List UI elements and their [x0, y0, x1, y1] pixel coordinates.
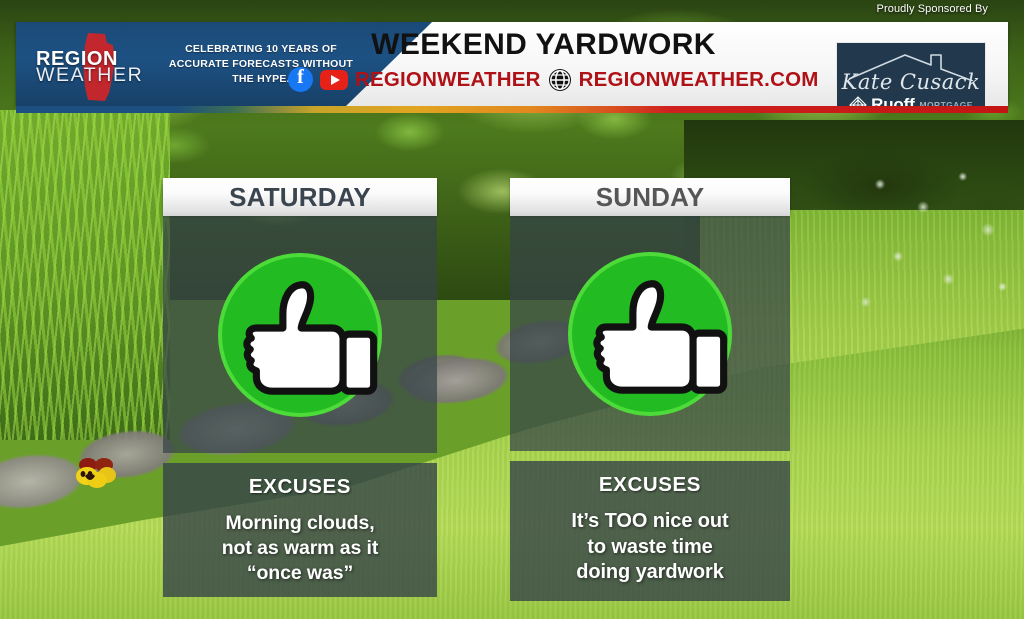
day-name-sunday: SUNDAY	[596, 182, 705, 213]
sponsor-label: Proudly Sponsored By	[877, 3, 988, 15]
day-icon-panel-sunday	[510, 216, 790, 451]
globe-icon	[548, 68, 572, 92]
day-column-sunday: SUNDAY EXCUSES It’s TOO nice out to wast…	[510, 178, 790, 601]
youtube-icon[interactable]	[320, 70, 348, 90]
excuses-line: to waste time	[520, 535, 780, 561]
thumbs-up-icon	[566, 250, 734, 418]
excuses-panel-saturday: EXCUSES Morning clouds, not as warm as i…	[163, 463, 437, 597]
facebook-icon[interactable]	[288, 67, 313, 92]
excuses-title-sunday: EXCUSES	[520, 473, 780, 497]
header-banner: REGION WEATHER CELEBRATING 10 YEARS OF A…	[16, 22, 1008, 106]
day-header-saturday: SATURDAY	[163, 178, 437, 216]
sponsor-brand-lockup: Ruoff MORTGAGE	[837, 95, 985, 106]
background-pansy-flower	[74, 456, 122, 492]
day-header-sunday: SUNDAY	[510, 178, 790, 216]
ruoff-weave-mark-icon	[849, 96, 867, 106]
page-title: WEEKEND YARDWORK	[316, 28, 771, 62]
website-url[interactable]: REGIONWEATHER.COM	[579, 68, 819, 92]
excuses-text-saturday: Morning clouds, not as warm as it “once …	[173, 511, 427, 586]
weather-graphic: REGION WEATHER CELEBRATING 10 YEARS OF A…	[0, 0, 1024, 619]
sponsor-logo-box[interactable]: Kate Cusack Ruoff MORTGAGE	[836, 42, 986, 106]
banner-color-strip	[16, 106, 1008, 113]
day-column-saturday: SATURDAY EXCUSES Morning clouds, not as …	[163, 178, 437, 597]
excuses-line: doing yardwork	[520, 560, 780, 586]
region-weather-logo[interactable]: REGION WEATHER	[34, 34, 164, 96]
day-name-saturday: SATURDAY	[229, 182, 371, 213]
day-icon-panel-saturday	[163, 216, 437, 453]
excuses-panel-sunday: EXCUSES It’s TOO nice out to waste time …	[510, 461, 790, 601]
excuses-title-saturday: EXCUSES	[173, 475, 427, 499]
region-weather-wordmark: REGION WEATHER	[36, 50, 166, 85]
logo-line-weather: WEATHER	[36, 67, 166, 85]
sponsor-brand: Ruoff	[871, 95, 914, 106]
excuses-line: Morning clouds,	[173, 511, 427, 536]
excuses-line: It’s TOO nice out	[520, 509, 780, 535]
social-links-row: REGIONWEATHER REGIONWEATHER.COM	[288, 67, 788, 92]
background-white-flowers	[844, 150, 1024, 340]
social-handle[interactable]: REGIONWEATHER	[355, 68, 541, 92]
excuses-line: not as warm as it	[173, 536, 427, 561]
thumbs-up-icon	[216, 251, 384, 419]
excuses-line: “once was”	[173, 561, 427, 586]
excuses-text-sunday: It’s TOO nice out to waste time doing ya…	[520, 509, 780, 586]
sponsor-name: Kate Cusack	[837, 70, 985, 94]
